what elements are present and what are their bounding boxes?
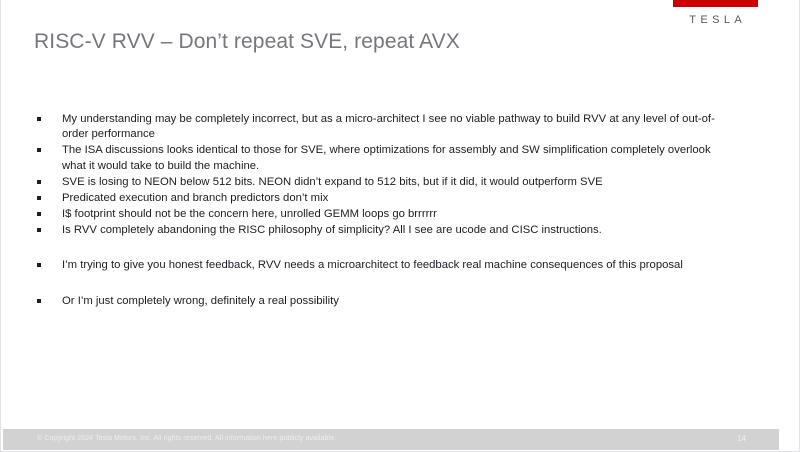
list-item: Is RVV completely abandoning the RISC ph… — [34, 223, 734, 238]
list-item-text: Predicated execution and branch predicto… — [62, 191, 734, 206]
bullet-marker-icon — [37, 180, 41, 184]
page-title: RISC-V RVV – Don’t repeat SVE, repeat AV… — [34, 30, 460, 54]
list-item: Or I’m just completely wrong, definitely… — [34, 294, 734, 309]
list-item-text: My understanding may be completely incor… — [62, 112, 734, 142]
list-item: SVE is losing to NEON below 512 bits. NE… — [34, 175, 734, 190]
bullet-marker-icon — [37, 228, 41, 232]
tesla-wordmark: TESLA — [673, 14, 758, 26]
bullet-list: My understanding may be completely incor… — [34, 112, 734, 310]
list-item: The ISA discussions looks identical to t… — [34, 143, 734, 173]
bullet-marker-icon — [37, 148, 41, 152]
page-number: 14 — [737, 434, 746, 443]
copyright-text: © Copyright 2024 Tesla Motors, Inc. All … — [37, 435, 336, 442]
bullet-marker-icon — [37, 299, 41, 303]
list-item-text: I$ footprint should not be the concern h… — [62, 207, 734, 222]
tesla-logo: TESLA — [673, 0, 758, 26]
list-item-text: Is RVV completely abandoning the RISC ph… — [62, 223, 734, 238]
tesla-red-bar-icon — [673, 0, 758, 7]
list-item: Predicated execution and branch predicto… — [34, 191, 734, 206]
spacer — [34, 274, 734, 294]
spacer — [34, 240, 734, 258]
bullet-marker-icon — [37, 117, 41, 121]
list-item-text: SVE is losing to NEON below 512 bits. NE… — [62, 175, 734, 190]
list-item: I$ footprint should not be the concern h… — [34, 207, 734, 222]
list-item-text: I’m trying to give you honest feedback, … — [62, 258, 734, 273]
list-item: My understanding may be completely incor… — [34, 112, 734, 142]
bullet-marker-icon — [37, 196, 41, 200]
slide-footer: © Copyright 2024 Tesla Motors, Inc. All … — [3, 429, 779, 450]
list-item-text: Or I’m just completely wrong, definitely… — [62, 294, 734, 309]
bullet-marker-icon — [37, 212, 41, 216]
bullet-marker-icon — [37, 263, 41, 267]
list-item-text: The ISA discussions looks identical to t… — [62, 143, 734, 173]
presentation-slide: TESLA RISC-V RVV – Don’t repeat SVE, rep… — [0, 0, 800, 452]
list-item: I’m trying to give you honest feedback, … — [34, 258, 734, 273]
